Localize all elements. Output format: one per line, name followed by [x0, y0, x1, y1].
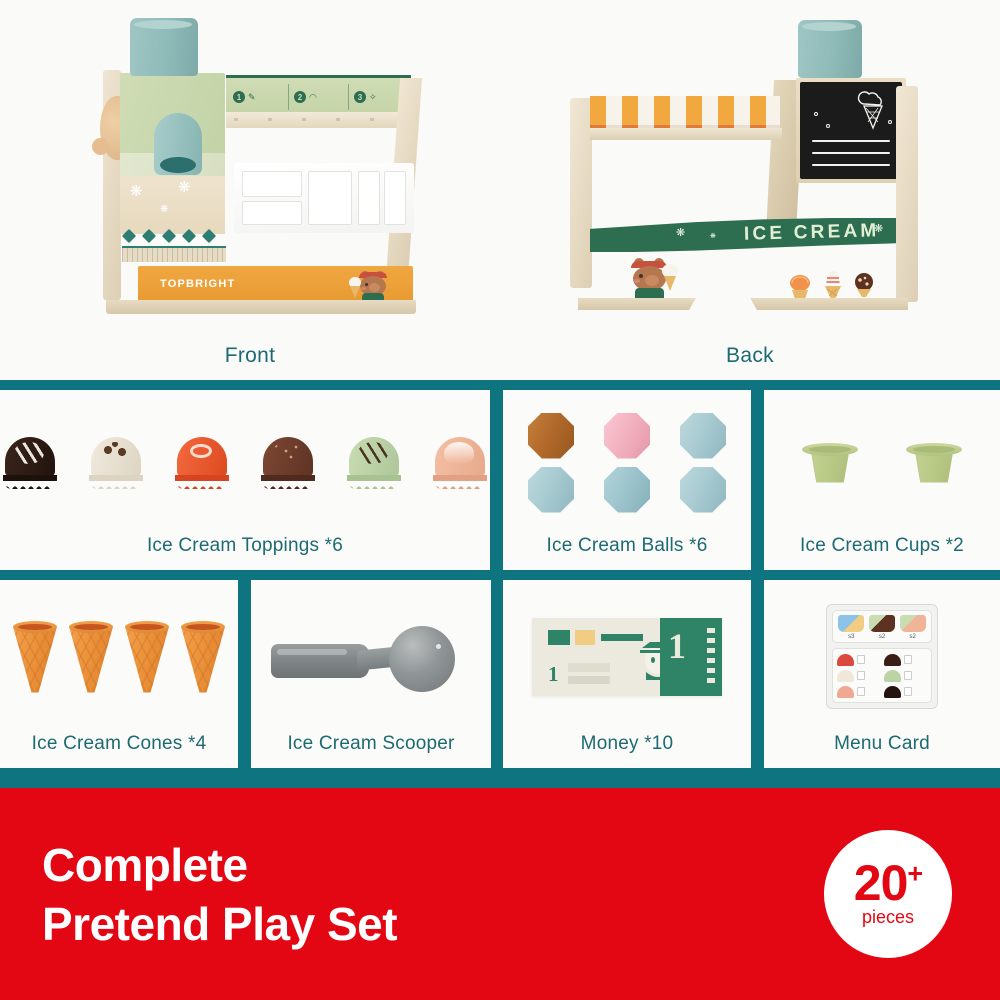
- cone-body: [69, 627, 113, 693]
- ice-cream-cup-icon: [802, 443, 858, 483]
- bear-cheek: [361, 287, 366, 290]
- menu-checkbox: [904, 655, 912, 664]
- tray-slot: [384, 171, 406, 225]
- menu-checkbox: [857, 671, 865, 680]
- back-toy-illustration: ❋ ❋ ❋ ICE CREAM: [570, 20, 940, 310]
- tray-slot: [242, 201, 302, 225]
- chalk-ice-cream-icon: [856, 90, 890, 132]
- topping-swirl: [14, 442, 44, 464]
- cone-body: [125, 627, 169, 693]
- diamond-icon: [162, 229, 176, 243]
- blue-ball-icon: [604, 467, 650, 513]
- grid-cell-cones: Ice Cream Cones *4: [0, 580, 238, 768]
- menu-dome-icon: [884, 686, 901, 698]
- ice-cream-cone-icon: [181, 621, 225, 693]
- blue-ball-icon: [680, 467, 726, 513]
- back-base: [578, 298, 908, 310]
- bear-cheek: [634, 279, 640, 283]
- chalk-line: [812, 140, 890, 142]
- menu-topping-row: [884, 670, 927, 682]
- tray-slot: [242, 171, 302, 197]
- diamond-icon: [182, 229, 196, 243]
- front-face-panel: ❋ ❋ ❋: [120, 176, 225, 234]
- menu-topping-row: [884, 686, 927, 698]
- topping-skirt: [347, 475, 401, 489]
- menu-topping-row: [837, 670, 880, 682]
- bear-eye: [639, 274, 643, 278]
- cone-scoop: [662, 264, 678, 278]
- topping-skirt: [175, 475, 229, 489]
- scooper-handle: [271, 644, 369, 678]
- topping-swirl: [444, 442, 474, 464]
- chocolate-dark-topping-icon: [2, 437, 58, 489]
- promo-banner: Complete Pretend Play Set 20+ pieces: [0, 788, 1000, 1000]
- snowflake-icon: ❋: [178, 178, 191, 196]
- cone-wafer: [664, 276, 676, 291]
- chalk-line: [812, 152, 890, 154]
- topping-skirt: [261, 475, 315, 489]
- snowflake-icon: ❋: [160, 204, 168, 215]
- bill-denomination-large: 1: [668, 625, 686, 667]
- toppings-art: [0, 390, 490, 535]
- blue-ball-icon: [528, 467, 574, 513]
- cone-icon: [349, 277, 361, 297]
- badge-plus: +: [907, 858, 922, 888]
- milk-chocolate-topping-icon: [260, 437, 316, 489]
- tray-slot: [308, 171, 352, 225]
- chalk-line: [812, 164, 890, 166]
- menu-dome-icon: [837, 686, 854, 698]
- menu-checkbox: [857, 687, 865, 696]
- bill-square-green: [548, 630, 570, 645]
- cups-row: [802, 443, 962, 483]
- treat-swirl-icon: [788, 274, 812, 300]
- tray-slot: [358, 171, 380, 225]
- front-dispenser-nozzle-icon: [154, 113, 202, 175]
- toppings-row: [2, 437, 488, 489]
- grid-cell-money: 1 1 Money *10: [503, 580, 751, 768]
- diamond-icon: [122, 229, 136, 243]
- topping-skirt: [89, 475, 143, 489]
- menu-cup-icon: [869, 615, 895, 632]
- cone-rim: [125, 621, 169, 633]
- money-art: 1 1: [503, 580, 751, 733]
- pieces-badge: 20+ pieces: [824, 830, 952, 958]
- brown-ball-icon: [528, 413, 574, 459]
- menu-topping-row: [884, 654, 927, 666]
- bill-square-gold: [575, 630, 595, 645]
- menu-price-2: s2: [879, 634, 885, 640]
- menu-card-icon: s3 s2 s2: [826, 604, 938, 709]
- bill-perforation: [707, 628, 715, 686]
- cups-art: [764, 390, 1000, 535]
- brand-logo: TOPBRIGHT: [160, 278, 235, 290]
- toppings-label: Ice Cream Toppings *6: [147, 535, 343, 570]
- vanilla-topping-icon: [88, 437, 144, 489]
- scooper-label: Ice Cream Scooper: [287, 733, 454, 768]
- menu-dome-icon: [884, 654, 901, 666]
- back-view-caption: Back: [500, 344, 1000, 368]
- cones-label: Ice Cream Cones *4: [32, 733, 207, 768]
- menu-topping-row: [837, 654, 880, 666]
- back-right-post: [896, 86, 918, 302]
- front-grille: [122, 246, 226, 262]
- mint-topping-icon: [346, 437, 402, 489]
- menu-checkbox: [857, 655, 865, 664]
- menu-card-bottom-section: [832, 648, 932, 703]
- front-hopper-icon: [130, 18, 198, 76]
- menu-card-label: Menu Card: [834, 733, 930, 768]
- menu-price-3: s2: [909, 634, 915, 640]
- grid-cell-scooper: Ice Cream Scooper: [251, 580, 491, 768]
- menu-cup-icon: [900, 615, 926, 632]
- menu-checkbox: [904, 687, 912, 696]
- front-storage-tray: [234, 163, 414, 233]
- menu-dome-icon: [884, 670, 901, 682]
- menu-cup-icon: [838, 615, 864, 632]
- grid-cell-menu-card: s3 s2 s2: [764, 580, 1000, 768]
- chalk-dot-icon: [826, 124, 830, 128]
- front-view-caption: Front: [0, 344, 500, 368]
- money-label: Money *10: [581, 733, 674, 768]
- menu-item-3: s2: [900, 615, 926, 640]
- cup-rim: [906, 443, 962, 456]
- snowflake-icon: ❋: [710, 232, 716, 240]
- cone-wafer: [350, 286, 360, 298]
- bear-mascot-icon: [628, 258, 684, 302]
- front-step-1: 1 ✎: [228, 84, 286, 110]
- back-sign-text: ICE CREAM: [744, 220, 880, 246]
- money-icon: 1 1: [532, 618, 722, 696]
- cone-rim: [13, 621, 57, 633]
- badge-subtitle: pieces: [862, 907, 914, 928]
- bill-denomination-small: 1: [548, 662, 559, 687]
- banner-title: Complete Pretend Play Set: [42, 836, 397, 954]
- diamond-icon: [142, 229, 156, 243]
- badge-number: 20: [854, 855, 908, 911]
- front-brand-band: TOPBRIGHT: [138, 266, 413, 304]
- cups-label: Ice Cream Cups *2: [800, 535, 964, 570]
- cone-rim: [181, 621, 225, 633]
- front-step-3-glyph: ✧: [369, 92, 377, 103]
- front-base: [106, 300, 416, 314]
- peach-topping-icon: [432, 437, 488, 489]
- scooper-bowl: [389, 626, 455, 692]
- cone-body: [13, 627, 57, 693]
- menu-dome-icon: [837, 654, 854, 666]
- product-view-front: 1 ✎ 2 ◠ 3 ✧ ❋ ❋ ❋: [0, 0, 500, 380]
- badge-number-row: 20+: [854, 860, 922, 906]
- front-step-1-glyph: ✎: [248, 92, 256, 103]
- back-awning-board: [590, 128, 782, 140]
- bill-bar: [568, 676, 610, 684]
- bill-bar: [568, 663, 610, 672]
- cones-art: [0, 580, 238, 733]
- chalk-dot-icon: [814, 112, 818, 116]
- bear-mascot-icon: [356, 270, 400, 302]
- topping-skirt: [3, 475, 57, 489]
- front-nozzle-opening: [160, 157, 196, 173]
- product-views-section: 1 ✎ 2 ◠ 3 ✧ ❋ ❋ ❋: [0, 0, 1000, 380]
- product-view-back: ❋ ❋ ❋ ICE CREAM: [500, 0, 1000, 380]
- back-chalkboard: [800, 82, 902, 179]
- cone-rim: [69, 621, 113, 633]
- topping-skirt: [433, 475, 487, 489]
- components-grid: Ice Cream Toppings *6 Ice Cream Balls *6: [0, 380, 1000, 788]
- cone-icon: [662, 264, 678, 290]
- back-chalkboard-frame: [796, 78, 906, 183]
- ice-cream-cup-icon: [906, 443, 962, 483]
- front-step-2: 2 ◠: [288, 84, 346, 110]
- back-hopper-icon: [798, 20, 862, 78]
- front-diamond-band: [122, 230, 222, 242]
- front-shelf-board: [226, 112, 416, 128]
- bear-snout: [645, 275, 659, 286]
- menu-topping-row: [837, 686, 880, 698]
- snowflake-icon: ❋: [130, 182, 143, 200]
- balls-art: [503, 390, 751, 535]
- banner-title-line1: Complete: [42, 836, 397, 895]
- topping-swirl: [272, 442, 302, 464]
- topping-swirl: [190, 444, 212, 458]
- front-crank-handle-icon: [92, 138, 109, 155]
- ice-cream-cone-icon: [13, 621, 57, 693]
- front-toy-illustration: 1 ✎ 2 ◠ 3 ✧ ❋ ❋ ❋: [48, 18, 458, 308]
- balls-grid: [525, 413, 729, 513]
- grid-cell-balls: Ice Cream Balls *6: [503, 390, 751, 570]
- front-instruction-panel: 1 ✎ 2 ◠ 3 ✧: [226, 75, 411, 112]
- treat-chocolate-icon: [852, 272, 876, 298]
- cones-row: [13, 621, 225, 693]
- menu-price-1: s3: [848, 634, 854, 640]
- front-step-1-number: 1: [233, 91, 245, 103]
- balls-label: Ice Cream Balls *6: [547, 535, 708, 570]
- cone-body: [181, 627, 225, 693]
- front-step-3-number: 3: [354, 91, 366, 103]
- bear-snout: [369, 283, 380, 292]
- grid-cell-cups: Ice Cream Cups *2: [764, 390, 1000, 570]
- menu-item-1: s3: [838, 615, 864, 640]
- menu-card-top-section: s3 s2 s2: [832, 610, 932, 643]
- treat-cone-icon: [820, 268, 846, 300]
- blue-ball-icon: [680, 413, 726, 459]
- diamond-icon: [202, 229, 216, 243]
- banner-title-line2: Pretend Play Set: [42, 895, 397, 954]
- menu-dome-icon: [837, 670, 854, 682]
- bear-eye: [365, 283, 368, 286]
- ice-cream-cone-icon: [69, 621, 113, 693]
- back-awning-icon: [590, 96, 780, 128]
- strawberry-topping-icon: [174, 437, 230, 489]
- scooper-art: [251, 580, 491, 733]
- topping-swirl: [358, 442, 388, 464]
- front-step-2-number: 2: [294, 91, 306, 103]
- ice-cream-cone-icon: [125, 621, 169, 693]
- ice-cream-scooper-icon: [271, 622, 471, 692]
- front-step-2-glyph: ◠: [309, 92, 317, 103]
- menu-card-art: s3 s2 s2: [764, 580, 1000, 733]
- menu-checkbox: [904, 671, 912, 680]
- snowflake-icon: ❋: [676, 226, 685, 239]
- back-left-post: [570, 98, 592, 288]
- grid-cell-toppings: Ice Cream Toppings *6: [0, 390, 490, 570]
- menu-item-2: s2: [869, 615, 895, 640]
- cup-rim: [802, 443, 858, 456]
- pink-ball-icon: [604, 413, 650, 459]
- topping-swirl: [100, 442, 130, 464]
